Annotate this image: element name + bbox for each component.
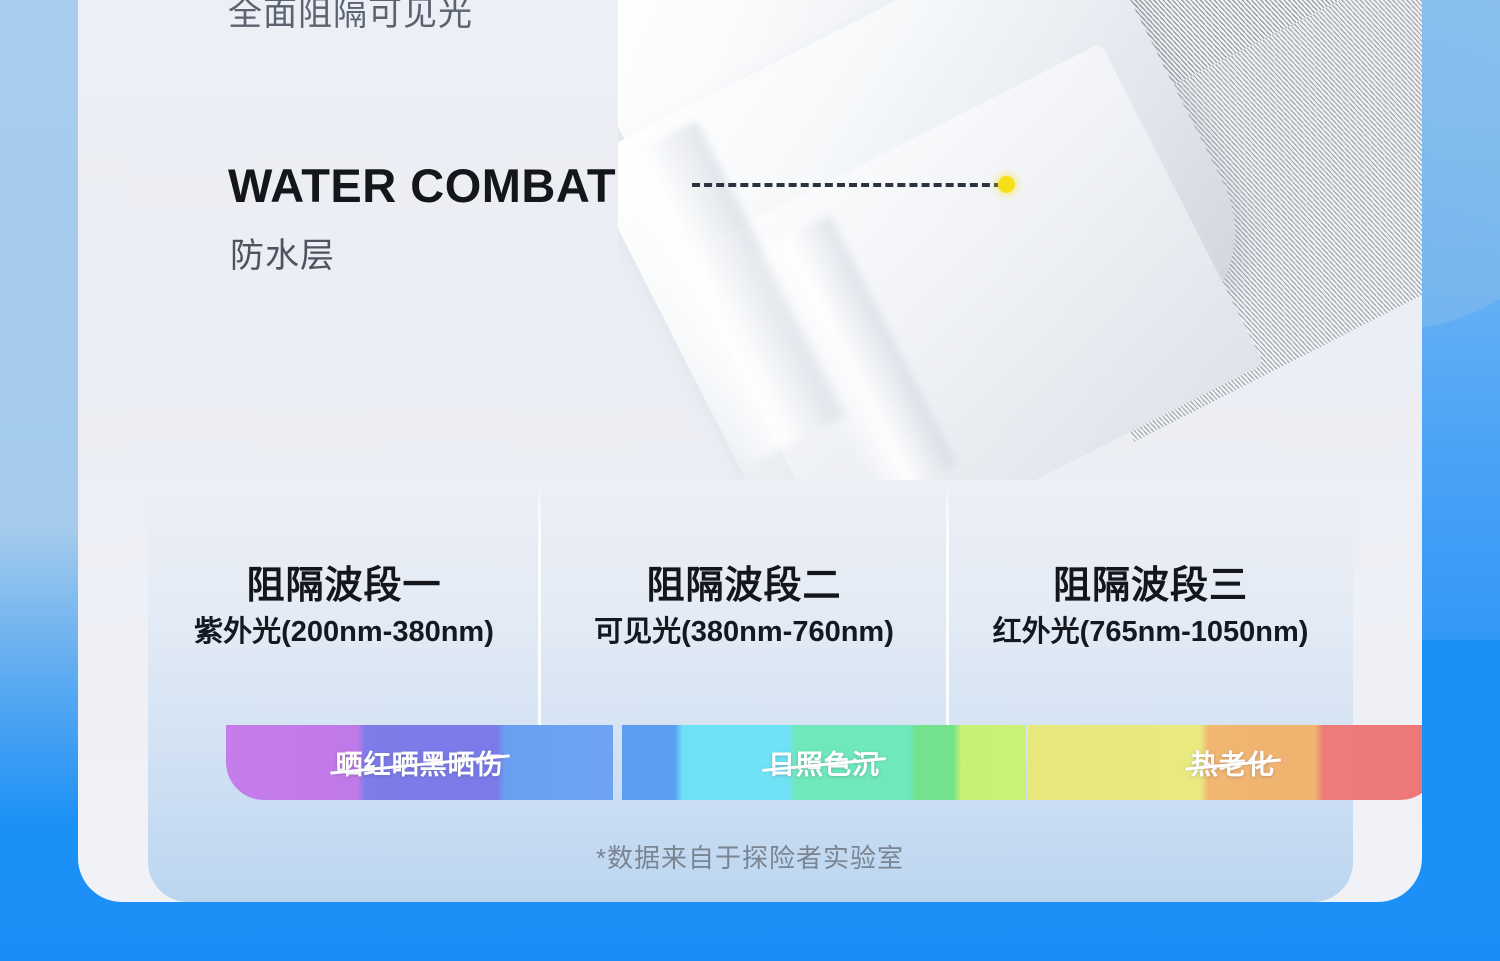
background-left-gradient [0, 0, 86, 961]
data-source-footnote: *数据来自于探险者实验室 [78, 838, 1422, 875]
top-partial-heading: 全面阻隔可见光 [228, 0, 473, 35]
spectrum-bars: 晒红晒黑晒伤 日照色沉 热老化 [226, 725, 1422, 800]
spec-column-2-subheading: 可见光(380nm-760nm) [540, 608, 948, 650]
spec-column-3-subheading: 红外光(765nm-1050nm) [948, 608, 1353, 650]
yellow-dot-marker-icon [998, 176, 1015, 193]
feature-title: WATER COMBAT [228, 158, 616, 213]
fabric-product-photo [618, 0, 1422, 480]
spec-column-1-heading: 阻隔波段一 [148, 554, 540, 609]
spec-column-2-heading: 阻隔波段二 [540, 554, 948, 609]
spectrum-bar-uv: 晒红晒黑晒伤 [226, 725, 613, 800]
content-card: 全面阻隔可见光 WATER COMBAT 防水层 阻隔波段一 紫外光(200nm… [78, 0, 1422, 902]
spectrum-bar-uv-label: 晒红晒黑晒伤 [336, 743, 504, 782]
spectrum-bar-visible-label: 日照色沉 [768, 743, 880, 782]
spectrum-bar-visible: 日照色沉 [622, 725, 1025, 800]
feature-subtitle: 防水层 [230, 228, 335, 277]
spectrum-bar-infrared: 热老化 [1028, 725, 1422, 800]
spec-column-3-heading: 阻隔波段三 [948, 554, 1353, 609]
spectrum-bar-infrared-label: 热老化 [1191, 743, 1275, 782]
spec-column-1-subheading: 紫外光(200nm-380nm) [148, 608, 540, 650]
callout-dashed-leader-line [692, 183, 1002, 187]
